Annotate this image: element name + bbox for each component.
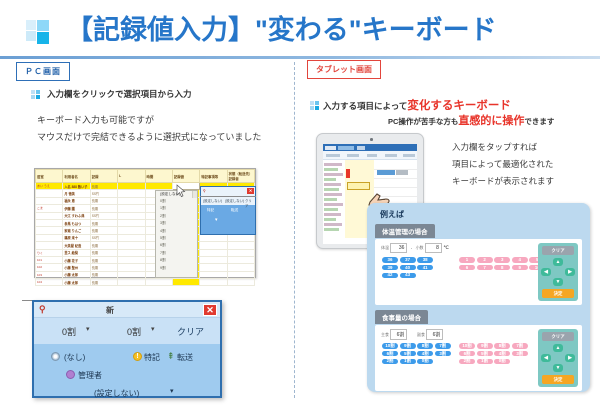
forward-icon: ⇞ xyxy=(167,351,176,360)
table-cell-note xyxy=(200,256,227,263)
table-cell-kana: 104 xyxy=(36,279,63,286)
table-cell-sts xyxy=(227,279,254,286)
table-cell-l xyxy=(118,212,145,219)
keypad-key[interactable]: 4割 xyxy=(494,351,510,356)
keypad-key[interactable]: 7割 xyxy=(435,343,451,348)
magnifier-connector-top xyxy=(200,196,256,197)
keypad-key[interactable]: 37 xyxy=(400,257,416,262)
table-cell-note xyxy=(200,264,227,271)
tag-chip-blue xyxy=(377,170,395,175)
keypad-key[interactable]: 1割 xyxy=(477,359,493,364)
dialog-item-admin[interactable]: 管理者 xyxy=(78,370,102,381)
keypad-key[interactable]: 2割 xyxy=(382,359,398,364)
dropdown-item[interactable]: 6割 xyxy=(156,243,197,250)
mouse-cursor-icon xyxy=(176,184,186,198)
page-header: 【記録値入力】"変わる"キーボード xyxy=(0,0,600,57)
table-cell-rec: SS竹 xyxy=(90,190,117,197)
input-value-2[interactable]: 8 xyxy=(425,243,442,253)
dropdown-item[interactable]: 2割 xyxy=(156,213,197,220)
keypad-key[interactable]: 8割 xyxy=(417,343,433,348)
dropdown-scrollbar[interactable] xyxy=(192,191,197,198)
tablet-lead-text: 入力する項目によって変化するキーボード xyxy=(323,97,511,113)
inline-popup-titlebar: ⚲ ✕ xyxy=(201,187,255,196)
magnified-input-dialog[interactable]: ⚲ 新 ✕ 0割 ▾ 0割 ▾ クリア (なし) ! 特記 ⇞ 転送 管理者 (… xyxy=(32,300,222,398)
input-value-2[interactable]: 6割 xyxy=(426,329,443,340)
table-cell-sts xyxy=(227,264,254,271)
confirm-button[interactable]: 決定 xyxy=(542,375,574,384)
inline-popup-selects: (設定しない) (設定しない) クリア xyxy=(201,196,255,205)
inline-note-button[interactable]: 特記 xyxy=(207,208,214,213)
keyboard-body: 主食 6割 副食 6割 10割9割8割7割6割5割4割3割2割1割0割 10割9… xyxy=(375,325,582,391)
table-cell-nm: 参馬 もはつ xyxy=(63,219,90,226)
table-cell-rec: SS竹 xyxy=(90,234,117,241)
th-name: 利用者名 xyxy=(63,170,90,183)
keypad-key[interactable]: 40 xyxy=(400,265,416,270)
table-cell-sts xyxy=(227,271,254,278)
table-cell-note xyxy=(200,279,227,286)
keypad-row: 363738 xyxy=(382,257,435,265)
table-cell-t xyxy=(145,279,172,286)
close-icon[interactable]: ✕ xyxy=(203,304,217,316)
table-cell-kana xyxy=(36,212,63,219)
keypad-row: 394041 xyxy=(382,265,435,273)
arrow-down-icon[interactable]: ▼ xyxy=(553,364,563,372)
table-cell-sts xyxy=(227,249,254,256)
table-cell-note xyxy=(200,249,227,256)
th-status: 状態（転送先）記録者 xyxy=(227,170,254,183)
section-tag-pc: ＰＣ画面 xyxy=(16,62,70,81)
keypad-key[interactable]: 42 xyxy=(382,273,398,278)
table-cell-rec: 長期 xyxy=(90,205,117,212)
dropdown-item[interactable]: 1割 xyxy=(156,206,197,213)
table-row[interactable]: 篠原 来十SS竹 xyxy=(36,234,255,241)
table-cell-rec: 長期 xyxy=(90,242,117,249)
inline-popup-actions: 特記 転送 xyxy=(201,205,255,217)
dialog-item-note[interactable]: 特記 xyxy=(144,352,160,363)
input-unit: ℃ xyxy=(443,245,449,251)
table-cell-sts xyxy=(227,234,254,241)
table-cell-l xyxy=(118,190,145,197)
table-cell-l xyxy=(118,234,145,241)
input-label-2: 副食 xyxy=(417,332,425,337)
table-cell-rec: 長期 xyxy=(90,219,117,226)
keypad-key[interactable]: 0割 xyxy=(417,359,433,364)
tag-chip-gray xyxy=(396,170,408,175)
table-cell-kana: 101 xyxy=(36,256,63,263)
table-cell-nm: 大江 すわふ典 xyxy=(63,212,90,219)
keypad-controls: クリア ▲ ◀ ▶ ▼ 決定 xyxy=(538,243,578,301)
keyboard-tab-label[interactable]: 体温管理の場合 xyxy=(375,224,435,238)
input-label-1: 主食 xyxy=(381,332,389,337)
keypad-key[interactable]: 7割 xyxy=(512,343,528,348)
tablet-body-line-1: 入力欄をタップすれば xyxy=(452,139,554,156)
table-row[interactable]: 103小藤 太郎長期 xyxy=(36,271,255,278)
keypad-key[interactable]: 3割 xyxy=(435,351,451,356)
table-cell-nm: 小藤 聖州 xyxy=(63,264,90,271)
dialog-body: (なし) ! 特記 ⇞ 転送 管理者 (設定しない) ▾ xyxy=(34,344,220,398)
table-cell-l xyxy=(118,271,145,278)
tablet-lead-prefix: 入力する項目によって xyxy=(323,101,407,111)
table-cell-kana: 103 xyxy=(36,271,63,278)
th-value: 記録値 xyxy=(172,170,199,183)
chevron-down-icon[interactable]: ▾ xyxy=(151,325,155,333)
table-cell-kana xyxy=(36,234,63,241)
keypad-key[interactable]: 5割 xyxy=(477,351,493,356)
inline-select-2[interactable]: (設定しない) xyxy=(225,198,244,203)
input-value-1[interactable]: 6割 xyxy=(390,329,407,340)
table-cell-kana: 102 xyxy=(36,264,63,271)
table-cell-rec: SS竹 xyxy=(90,212,117,219)
keypad-row: 12345 xyxy=(459,257,547,265)
table-cell-l xyxy=(118,264,145,271)
pc-lead-text: 入力欄をクリックで選択項目から入力 xyxy=(47,88,192,100)
dialog-clear-button[interactable]: クリア xyxy=(177,325,204,338)
warning-icon: ! xyxy=(133,352,142,361)
table-cell-l xyxy=(118,256,145,263)
tablet-body-line-3: キーボードが表示されます xyxy=(452,173,554,190)
table-cell-kana xyxy=(36,227,63,234)
dropdown-item[interactable]: 3割 xyxy=(156,221,197,228)
inline-select-1[interactable]: (設定しない) xyxy=(203,198,222,203)
pin-icon[interactable]: ⚲ xyxy=(39,304,46,315)
table-cell-nm: 篠原 来十 xyxy=(63,234,90,241)
table-cell-l xyxy=(118,242,145,249)
keypad-main-dish[interactable]: 10割9割8割7割6割5割4割3割2割1割0割 xyxy=(382,343,452,366)
keypad-key[interactable]: 0割 xyxy=(494,359,510,364)
table-cell-rec: 長期 xyxy=(90,227,117,234)
table-cell-kana xyxy=(36,197,63,204)
dropdown-item[interactable]: 0割 xyxy=(156,198,197,205)
table-cell-l xyxy=(118,227,145,234)
pc-body-line-2: マウスだけで完結できるように選択式になっていました xyxy=(37,129,261,146)
dialog-value-1[interactable]: 0割 xyxy=(62,325,76,338)
table-cell-nm: 小藤 太郎 xyxy=(63,271,90,278)
tablet-lead2-prefix: PC操作が苦手な方も xyxy=(388,117,458,126)
dialog-title: 新 xyxy=(106,305,114,316)
keypad-key[interactable]: 36 xyxy=(382,257,398,262)
arrow-right-icon[interactable]: ▶ xyxy=(565,354,575,362)
th-room: 居室 xyxy=(36,170,63,183)
table-cell-kana: こま xyxy=(36,205,63,212)
table-cell-rec: 長期 xyxy=(90,279,117,286)
pc-body-text: キーボード入力も可能ですが マウスだけで完結できるように選択式になっていました xyxy=(37,112,261,146)
keypad-key[interactable]: 1割 xyxy=(400,359,416,364)
table-cell-nm: 大美屋 紀造 xyxy=(63,242,90,249)
tablet-app-toolbar xyxy=(323,144,417,151)
table-cell-t xyxy=(145,183,172,190)
table-cell-l xyxy=(118,183,145,190)
keypad-key[interactable]: 39 xyxy=(382,265,398,270)
table-cell-rec: 長期 xyxy=(90,271,117,278)
dialog-titlebar: ⚲ 新 ✕ xyxy=(34,302,220,318)
dialog-select-row: 0割 ▾ 0割 ▾ クリア xyxy=(34,318,220,344)
arrow-up-icon[interactable]: ▲ xyxy=(553,344,563,352)
page-title: 【記録値入力】"変わる"キーボード xyxy=(66,8,497,47)
table-cell-l xyxy=(118,279,145,286)
keyboard-tab-label[interactable]: 食事量の場合 xyxy=(375,310,428,324)
keypad-decimal[interactable]: 12345678910 xyxy=(459,257,547,272)
keypad-row: 4243 xyxy=(382,272,435,280)
arrow-down-icon[interactable]: ▼ xyxy=(553,278,563,286)
arrow-left-icon[interactable]: ◀ xyxy=(541,268,551,276)
table-cell-nm: 伊藤 園 xyxy=(63,205,90,212)
dropdown-item[interactable]: 9割 xyxy=(156,265,197,272)
table-cell-rec: 長期 xyxy=(90,264,117,271)
input-value-1[interactable]: 36 xyxy=(390,243,407,253)
clear-button[interactable]: クリア xyxy=(542,332,574,341)
keypad-key[interactable]: 4割 xyxy=(417,351,433,356)
keypad-key[interactable]: 38 xyxy=(417,257,433,262)
table-cell-nm: 家城 りんご xyxy=(63,227,90,234)
keyboard-input-row: 体温 36 . 小数 8 ℃ xyxy=(381,243,449,253)
brand-logo-icon xyxy=(26,20,50,44)
confirm-button[interactable]: 決定 xyxy=(542,289,574,298)
table-cell-rec: 長期 xyxy=(90,197,117,204)
bullet-marker-icon xyxy=(310,101,319,110)
table-cell-rec: 長期 xyxy=(90,183,117,190)
table-cell-nm: 里ス 絵梨 xyxy=(63,249,90,256)
keypad-key[interactable]: 2割 xyxy=(459,359,475,364)
person-icon xyxy=(66,370,75,379)
table-cell-sts xyxy=(227,242,254,249)
keypad-key[interactable]: 6割 xyxy=(459,351,475,356)
tablet-lead2-suffix: できます xyxy=(524,117,554,126)
table-cell-kana xyxy=(36,219,63,226)
keypad-key[interactable]: 4 xyxy=(512,257,528,262)
table-cell-l xyxy=(118,249,145,256)
keypad-integer[interactable]: 3637383940414243 xyxy=(382,257,435,280)
th-record: 記録 xyxy=(90,170,117,183)
table-cell-rec: 長期 xyxy=(90,256,117,263)
arrow-right-icon[interactable]: ▶ xyxy=(565,268,575,276)
keypad-key[interactable]: 9 xyxy=(512,265,528,270)
keypad-key[interactable]: 8 xyxy=(494,265,510,270)
table-row[interactable]: 大美屋 紀造長期 xyxy=(36,242,255,249)
tablet-body-line-2: 項目によって最適化された xyxy=(452,156,554,173)
arrow-left-icon[interactable]: ◀ xyxy=(541,354,551,362)
clear-button[interactable]: クリア xyxy=(542,246,574,255)
table-cell-note xyxy=(200,242,227,249)
keypad-key[interactable]: 10割 xyxy=(382,343,398,348)
section-tag-tablet: タブレット画面 xyxy=(307,60,381,79)
column-divider xyxy=(294,62,295,398)
keyboard-input-row: 主食 6割 副食 6割 xyxy=(381,329,443,340)
dropdown-item[interactable]: 7割 xyxy=(156,250,197,257)
keypad-key[interactable]: 8割 xyxy=(494,343,510,348)
dialog-item-unset[interactable]: (設定しない) xyxy=(94,388,139,399)
tablet-lead2-text: PC操作が苦手な方も直感的に操作できます xyxy=(388,112,554,128)
table-cell-l xyxy=(118,205,145,212)
tablet-lead2-highlight: 直感的に操作 xyxy=(458,115,524,127)
table-row[interactable]: りく里ス 絵梨長期 xyxy=(36,249,255,256)
table-row[interactable]: 104小藤 太郎長期 xyxy=(36,279,255,286)
table-cell-sts xyxy=(227,256,254,263)
pin-icon: ⚲ xyxy=(203,189,206,193)
table-cell-nm: 小藤 花子 xyxy=(63,256,90,263)
dropdown-item[interactable]: 5割 xyxy=(156,235,197,242)
keypad-key[interactable]: 6割 xyxy=(382,351,398,356)
camera-icon xyxy=(370,138,373,141)
keypad-row: 2割1割0割 xyxy=(382,358,452,366)
table-row[interactable]: 101小藤 花子長期 xyxy=(36,256,255,263)
table-cell-val xyxy=(172,279,199,286)
keypad-row: 678910 xyxy=(459,265,547,273)
chevron-down-icon[interactable]: ▾ xyxy=(86,325,90,333)
keypad-key[interactable]: 1 xyxy=(459,257,475,262)
keypad-key[interactable]: 2 xyxy=(477,257,493,262)
keypad-key[interactable]: 43 xyxy=(400,273,416,278)
chevron-down-icon[interactable]: ▾ xyxy=(170,387,174,395)
clock-icon xyxy=(51,352,60,361)
dialog-value-2[interactable]: 0割 xyxy=(127,325,141,338)
keypad-key[interactable]: 9割 xyxy=(477,343,493,348)
table-cell-kana: りく xyxy=(36,249,63,256)
keypad-controls: クリア ▲ ◀ ▶ ▼ 決定 xyxy=(538,329,578,387)
input-label-1: 体温 xyxy=(381,245,389,250)
table-cell-nm: 福永 恵 xyxy=(63,197,90,204)
input-separator: . xyxy=(409,245,414,251)
dropdown-item[interactable]: 8割 xyxy=(156,258,197,265)
grid-name-column xyxy=(323,160,345,238)
table-cell-nm: 月 徳美 xyxy=(63,190,90,197)
header-divider xyxy=(0,56,600,59)
input-label-2: 小数 xyxy=(416,245,424,250)
th-l: L xyxy=(118,170,145,183)
keypad-row: 10割9割8割7割 xyxy=(459,343,529,351)
tablet-filter-row xyxy=(323,151,417,160)
keypad-side-dish[interactable]: 10割9割8割7割6割5割4割3割2割1割0割 xyxy=(459,343,529,366)
table-cell-note xyxy=(200,271,227,278)
table-cell-note xyxy=(200,234,227,241)
table-cell-nm: 小藤 太郎 xyxy=(63,279,90,286)
table-cell-kana: あい うえ xyxy=(36,183,63,190)
keypad-key[interactable]: 10割 xyxy=(459,343,475,348)
tablet-lead-highlight: 変化するキーボード xyxy=(407,100,511,112)
keyboard-body: 体温 36 . 小数 8 ℃ 3637383940414243 12345678… xyxy=(375,239,582,305)
keypad-key[interactable]: 5割 xyxy=(400,351,416,356)
keyboard-card-title: 例えば xyxy=(380,209,404,220)
keypad-row: 2割1割0割 xyxy=(459,358,529,366)
bullet-marker-icon xyxy=(31,90,40,99)
dropdown-item[interactable]: 4割 xyxy=(156,228,197,235)
arrow-up-icon[interactable]: ▲ xyxy=(553,258,563,266)
status-marker xyxy=(346,169,350,178)
table-cell-kana xyxy=(36,190,63,197)
table-row[interactable]: 102小藤 聖州長期 xyxy=(36,264,255,271)
table-cell-kana xyxy=(36,242,63,249)
keypad-key[interactable]: 3割 xyxy=(512,351,528,356)
keypad-row: 10割9割8割7割 xyxy=(382,343,452,351)
keypad-key[interactable]: 7 xyxy=(477,265,493,270)
table-cell-nm: 入名 888 数い子 xyxy=(63,183,90,190)
th-time: 時間 xyxy=(145,170,172,183)
keypad-key[interactable]: 3 xyxy=(494,257,510,262)
table-cell-rec: 長期 xyxy=(90,249,117,256)
dialog-item-forward[interactable]: 転送 xyxy=(177,352,193,363)
table-header-row: 居室 利用者名 記録 L 時間 記録値 特記事項等 状態（転送先）記録者 xyxy=(36,170,255,183)
value-dropdown-list[interactable]: (設定しない)0割1割2割3割4割5割6割7割8割9割 xyxy=(155,190,198,278)
keypad-key[interactable]: 41 xyxy=(417,265,433,270)
close-icon[interactable]: ✕ xyxy=(247,188,254,194)
keyboard-section-temperature: 体温管理の場合 体温 36 . 小数 8 ℃ 3637383940414243 … xyxy=(375,221,582,305)
keypad-key[interactable]: 6 xyxy=(459,265,475,270)
tablet-body-text: 入力欄をタップすれば 項目によって最適化された キーボードが表示されます xyxy=(452,139,554,190)
chevron-down-icon[interactable]: ▾ xyxy=(215,217,218,223)
th-note: 特記事項等 xyxy=(200,170,227,183)
inline-input-popup[interactable]: ⚲ ✕ (設定しない) (設定しない) クリア 特記 転送 ▾ xyxy=(200,186,256,235)
pc-body-line-1: キーボード入力も可能ですが xyxy=(37,112,261,129)
inline-forward-button[interactable]: 転送 xyxy=(231,208,238,213)
keyboard-section-meal: 食事量の場合 主食 6割 副食 6割 10割9割8割7割6割5割4割3割2割1割… xyxy=(375,307,582,391)
table-cell-l xyxy=(118,197,145,204)
dialog-item-none[interactable]: (なし) xyxy=(64,352,85,363)
keypad-key[interactable]: 9割 xyxy=(400,343,416,348)
table-cell-l xyxy=(118,219,145,226)
